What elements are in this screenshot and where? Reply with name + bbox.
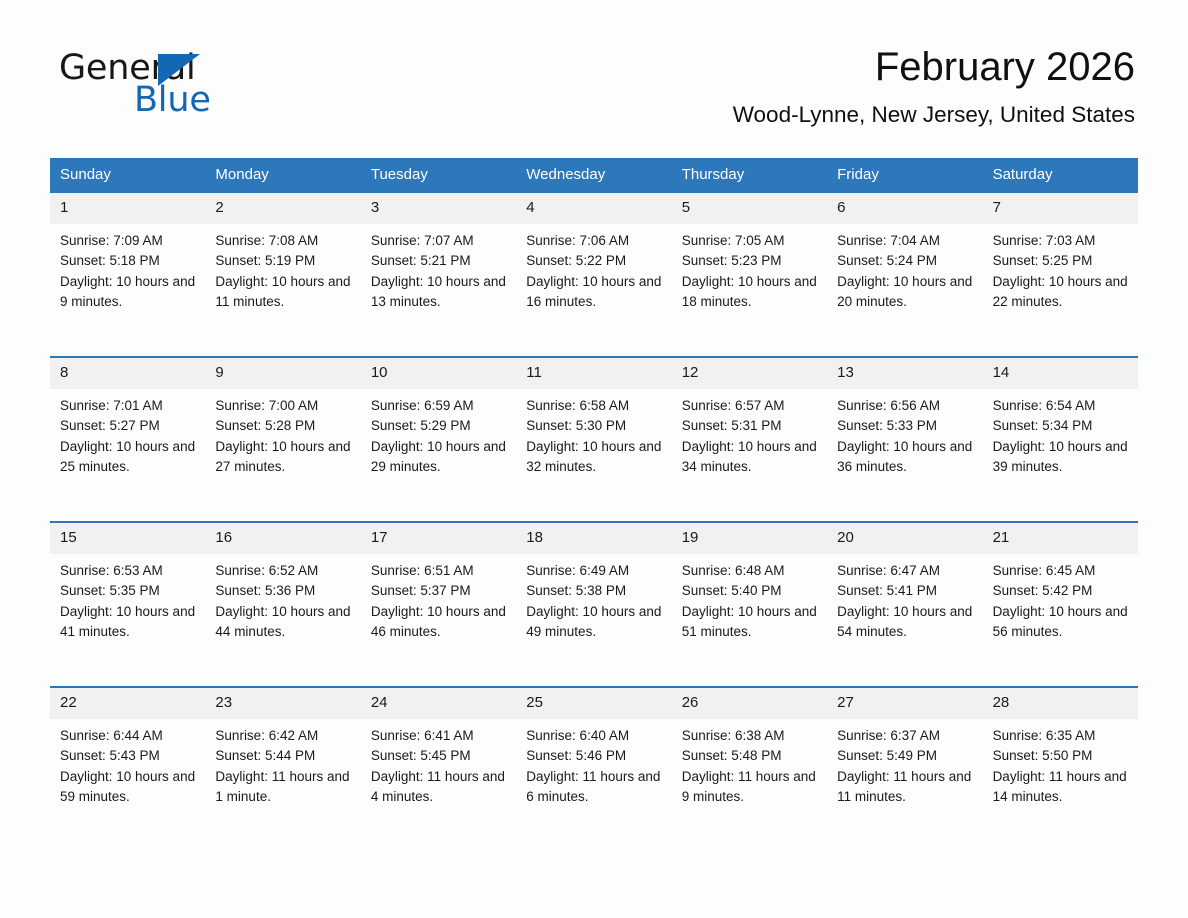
sunrise-text: Sunrise: 6:49 AM [526,561,663,581]
sunset-text: Sunset: 5:30 PM [526,416,663,436]
day-number: 14 [983,358,1138,389]
sunrise-sunset-calendar: SundayMondayTuesdayWednesdayThursdayFrid… [50,158,1138,851]
day-details: Sunrise: 6:35 AMSunset: 5:50 PMDaylight:… [983,719,1138,807]
sunrise-text: Sunrise: 6:58 AM [526,396,663,416]
sunrise-text: Sunrise: 6:48 AM [682,561,819,581]
sunset-text: Sunset: 5:44 PM [215,746,352,766]
day-details: Sunrise: 6:59 AMSunset: 5:29 PMDaylight:… [361,389,516,477]
sunset-text: Sunset: 5:28 PM [215,416,352,436]
weekday-header-tuesday: Tuesday [361,158,516,193]
daylight-text: Daylight: 11 hours and 11 minutes. [837,767,974,808]
sunrise-text: Sunrise: 7:01 AM [60,396,197,416]
sunrise-text: Sunrise: 6:57 AM [682,396,819,416]
day-details: Sunrise: 6:40 AMSunset: 5:46 PMDaylight:… [516,719,671,807]
calendar-day-cell[interactable]: 7Sunrise: 7:03 AMSunset: 5:25 PMDaylight… [983,193,1138,356]
calendar-page: General Blue February 2026 Wood-Lynne, N… [0,0,1188,918]
sunrise-text: Sunrise: 6:40 AM [526,726,663,746]
sunrise-text: Sunrise: 6:51 AM [371,561,508,581]
calendar-day-cell[interactable]: 28Sunrise: 6:35 AMSunset: 5:50 PMDayligh… [983,688,1138,851]
sunrise-text: Sunrise: 7:04 AM [837,231,974,251]
calendar-week-row: 1Sunrise: 7:09 AMSunset: 5:18 PMDaylight… [50,193,1138,356]
daylight-text: Daylight: 10 hours and 59 minutes. [60,767,197,808]
daylight-text: Daylight: 10 hours and 32 minutes. [526,437,663,478]
sunset-text: Sunset: 5:46 PM [526,746,663,766]
sunset-text: Sunset: 5:48 PM [682,746,819,766]
day-number: 26 [672,688,827,719]
sunset-text: Sunset: 5:36 PM [215,581,352,601]
day-details: Sunrise: 6:56 AMSunset: 5:33 PMDaylight:… [827,389,982,477]
calendar-day-cell[interactable]: 6Sunrise: 7:04 AMSunset: 5:24 PMDaylight… [827,193,982,356]
weekday-header-thursday: Thursday [672,158,827,193]
day-number: 8 [50,358,205,389]
daylight-text: Daylight: 11 hours and 14 minutes. [993,767,1130,808]
sunrise-text: Sunrise: 7:07 AM [371,231,508,251]
day-details: Sunrise: 6:49 AMSunset: 5:38 PMDaylight:… [516,554,671,642]
sunrise-text: Sunrise: 6:52 AM [215,561,352,581]
sunset-text: Sunset: 5:19 PM [215,251,352,271]
day-number: 25 [516,688,671,719]
calendar-body: 1Sunrise: 7:09 AMSunset: 5:18 PMDaylight… [50,193,1138,851]
sunset-text: Sunset: 5:25 PM [993,251,1130,271]
day-details: Sunrise: 6:52 AMSunset: 5:36 PMDaylight:… [205,554,360,642]
title-block: February 2026 Wood-Lynne, New Jersey, Un… [733,44,1135,128]
daylight-text: Daylight: 10 hours and 20 minutes. [837,272,974,313]
day-number: 18 [516,523,671,554]
sunrise-text: Sunrise: 7:03 AM [993,231,1130,251]
sunrise-text: Sunrise: 6:47 AM [837,561,974,581]
daylight-text: Daylight: 10 hours and 18 minutes. [682,272,819,313]
sunrise-text: Sunrise: 7:00 AM [215,396,352,416]
day-number: 17 [361,523,516,554]
day-details: Sunrise: 6:57 AMSunset: 5:31 PMDaylight:… [672,389,827,477]
day-details: Sunrise: 7:00 AMSunset: 5:28 PMDaylight:… [205,389,360,477]
daylight-text: Daylight: 10 hours and 27 minutes. [215,437,352,478]
sunrise-text: Sunrise: 6:41 AM [371,726,508,746]
day-details: Sunrise: 7:07 AMSunset: 5:21 PMDaylight:… [361,224,516,312]
day-details: Sunrise: 6:53 AMSunset: 5:35 PMDaylight:… [50,554,205,642]
day-details: Sunrise: 7:06 AMSunset: 5:22 PMDaylight:… [516,224,671,312]
sunset-text: Sunset: 5:41 PM [837,581,974,601]
day-number: 6 [827,193,982,224]
calendar-day-cell[interactable]: 21Sunrise: 6:45 AMSunset: 5:42 PMDayligh… [983,523,1138,686]
day-number: 28 [983,688,1138,719]
sunrise-text: Sunrise: 6:45 AM [993,561,1130,581]
daylight-text: Daylight: 10 hours and 11 minutes. [215,272,352,313]
daylight-text: Daylight: 10 hours and 49 minutes. [526,602,663,643]
calendar-day-cell[interactable]: 23Sunrise: 6:42 AMSunset: 5:44 PMDayligh… [205,688,360,851]
sunrise-text: Sunrise: 6:54 AM [993,396,1130,416]
daylight-text: Daylight: 11 hours and 6 minutes. [526,767,663,808]
calendar-day-cell[interactable]: 22Sunrise: 6:44 AMSunset: 5:43 PMDayligh… [50,688,205,851]
calendar-day-cell[interactable]: 3Sunrise: 7:07 AMSunset: 5:21 PMDaylight… [361,193,516,356]
page-subtitle: Wood-Lynne, New Jersey, United States [733,102,1135,128]
daylight-text: Daylight: 10 hours and 9 minutes. [60,272,197,313]
weekday-header-monday: Monday [205,158,360,193]
day-details: Sunrise: 6:58 AMSunset: 5:30 PMDaylight:… [516,389,671,477]
day-number: 9 [205,358,360,389]
day-number: 5 [672,193,827,224]
sunset-text: Sunset: 5:50 PM [993,746,1130,766]
day-details: Sunrise: 6:44 AMSunset: 5:43 PMDaylight:… [50,719,205,807]
general-blue-logo[interactable]: General Blue [59,48,259,122]
sunrise-text: Sunrise: 6:37 AM [837,726,974,746]
day-number: 12 [672,358,827,389]
logo-text-blue: Blue [134,80,211,120]
calendar-day-cell[interactable]: 16Sunrise: 6:52 AMSunset: 5:36 PMDayligh… [205,523,360,686]
calendar-day-cell[interactable]: 15Sunrise: 6:53 AMSunset: 5:35 PMDayligh… [50,523,205,686]
sunrise-text: Sunrise: 6:38 AM [682,726,819,746]
weekday-header-friday: Friday [827,158,982,193]
day-details: Sunrise: 6:54 AMSunset: 5:34 PMDaylight:… [983,389,1138,477]
sunset-text: Sunset: 5:45 PM [371,746,508,766]
day-details: Sunrise: 7:08 AMSunset: 5:19 PMDaylight:… [205,224,360,312]
sunrise-text: Sunrise: 7:08 AM [215,231,352,251]
day-number: 7 [983,193,1138,224]
calendar-day-cell[interactable]: 4Sunrise: 7:06 AMSunset: 5:22 PMDaylight… [516,193,671,356]
sunset-text: Sunset: 5:23 PM [682,251,819,271]
day-number: 15 [50,523,205,554]
calendar-day-cell[interactable]: 13Sunrise: 6:56 AMSunset: 5:33 PMDayligh… [827,358,982,521]
calendar-day-cell[interactable]: 12Sunrise: 6:57 AMSunset: 5:31 PMDayligh… [672,358,827,521]
day-number: 27 [827,688,982,719]
daylight-text: Daylight: 10 hours and 56 minutes. [993,602,1130,643]
day-details: Sunrise: 6:41 AMSunset: 5:45 PMDaylight:… [361,719,516,807]
page-header: General Blue February 2026 Wood-Lynne, N… [50,0,1138,112]
calendar-day-cell[interactable]: 19Sunrise: 6:48 AMSunset: 5:40 PMDayligh… [672,523,827,686]
daylight-text: Daylight: 11 hours and 1 minute. [215,767,352,808]
calendar-day-cell[interactable]: 5Sunrise: 7:05 AMSunset: 5:23 PMDaylight… [672,193,827,356]
sunrise-text: Sunrise: 6:59 AM [371,396,508,416]
day-number: 11 [516,358,671,389]
calendar-day-cell[interactable]: 24Sunrise: 6:41 AMSunset: 5:45 PMDayligh… [361,688,516,851]
sunrise-text: Sunrise: 6:44 AM [60,726,197,746]
calendar-day-cell[interactable]: 18Sunrise: 6:49 AMSunset: 5:38 PMDayligh… [516,523,671,686]
calendar-day-cell[interactable]: 25Sunrise: 6:40 AMSunset: 5:46 PMDayligh… [516,688,671,851]
daylight-text: Daylight: 10 hours and 16 minutes. [526,272,663,313]
calendar-day-cell[interactable]: 20Sunrise: 6:47 AMSunset: 5:41 PMDayligh… [827,523,982,686]
day-details: Sunrise: 7:04 AMSunset: 5:24 PMDaylight:… [827,224,982,312]
day-details: Sunrise: 7:09 AMSunset: 5:18 PMDaylight:… [50,224,205,312]
calendar-day-cell[interactable]: 1Sunrise: 7:09 AMSunset: 5:18 PMDaylight… [50,193,205,356]
daylight-text: Daylight: 10 hours and 22 minutes. [993,272,1130,313]
sunset-text: Sunset: 5:29 PM [371,416,508,436]
daylight-text: Daylight: 10 hours and 54 minutes. [837,602,974,643]
daylight-text: Daylight: 10 hours and 29 minutes. [371,437,508,478]
sunset-text: Sunset: 5:43 PM [60,746,197,766]
calendar-day-cell[interactable]: 17Sunrise: 6:51 AMSunset: 5:37 PMDayligh… [361,523,516,686]
day-number: 10 [361,358,516,389]
day-number: 13 [827,358,982,389]
day-details: Sunrise: 7:03 AMSunset: 5:25 PMDaylight:… [983,224,1138,312]
sunset-text: Sunset: 5:21 PM [371,251,508,271]
day-details: Sunrise: 6:45 AMSunset: 5:42 PMDaylight:… [983,554,1138,642]
day-details: Sunrise: 6:48 AMSunset: 5:40 PMDaylight:… [672,554,827,642]
sunset-text: Sunset: 5:40 PM [682,581,819,601]
calendar-day-cell[interactable]: 2Sunrise: 7:08 AMSunset: 5:19 PMDaylight… [205,193,360,356]
calendar-week-row: 15Sunrise: 6:53 AMSunset: 5:35 PMDayligh… [50,521,1138,686]
day-details: Sunrise: 6:38 AMSunset: 5:48 PMDaylight:… [672,719,827,807]
day-number: 16 [205,523,360,554]
daylight-text: Daylight: 10 hours and 46 minutes. [371,602,508,643]
sunset-text: Sunset: 5:35 PM [60,581,197,601]
sunset-text: Sunset: 5:34 PM [993,416,1130,436]
daylight-text: Daylight: 10 hours and 36 minutes. [837,437,974,478]
weekday-header-sunday: Sunday [50,158,205,193]
day-details: Sunrise: 6:51 AMSunset: 5:37 PMDaylight:… [361,554,516,642]
day-details: Sunrise: 6:42 AMSunset: 5:44 PMDaylight:… [205,719,360,807]
sunrise-text: Sunrise: 7:05 AM [682,231,819,251]
calendar-day-cell[interactable]: 14Sunrise: 6:54 AMSunset: 5:34 PMDayligh… [983,358,1138,521]
calendar-week-row: 22Sunrise: 6:44 AMSunset: 5:43 PMDayligh… [50,686,1138,851]
weekday-header-row: SundayMondayTuesdayWednesdayThursdayFrid… [50,158,1138,193]
page-title: February 2026 [733,44,1135,90]
weekday-header-wednesday: Wednesday [516,158,671,193]
day-number: 2 [205,193,360,224]
day-details: Sunrise: 7:05 AMSunset: 5:23 PMDaylight:… [672,224,827,312]
sunset-text: Sunset: 5:38 PM [526,581,663,601]
daylight-text: Daylight: 11 hours and 4 minutes. [371,767,508,808]
daylight-text: Daylight: 10 hours and 51 minutes. [682,602,819,643]
day-number: 19 [672,523,827,554]
calendar-day-cell[interactable]: 27Sunrise: 6:37 AMSunset: 5:49 PMDayligh… [827,688,982,851]
daylight-text: Daylight: 10 hours and 34 minutes. [682,437,819,478]
daylight-text: Daylight: 10 hours and 39 minutes. [993,437,1130,478]
sunrise-text: Sunrise: 7:06 AM [526,231,663,251]
sunset-text: Sunset: 5:33 PM [837,416,974,436]
calendar-day-cell[interactable]: 8Sunrise: 7:01 AMSunset: 5:27 PMDaylight… [50,358,205,521]
sunset-text: Sunset: 5:24 PM [837,251,974,271]
weekday-header-saturday: Saturday [983,158,1138,193]
day-details: Sunrise: 7:01 AMSunset: 5:27 PMDaylight:… [50,389,205,477]
daylight-text: Daylight: 10 hours and 41 minutes. [60,602,197,643]
calendar-day-cell[interactable]: 9Sunrise: 7:00 AMSunset: 5:28 PMDaylight… [205,358,360,521]
day-number: 23 [205,688,360,719]
day-number: 4 [516,193,671,224]
sunset-text: Sunset: 5:27 PM [60,416,197,436]
day-number: 21 [983,523,1138,554]
day-number: 24 [361,688,516,719]
sunset-text: Sunset: 5:49 PM [837,746,974,766]
sunrise-text: Sunrise: 6:35 AM [993,726,1130,746]
day-number: 22 [50,688,205,719]
sunset-text: Sunset: 5:37 PM [371,581,508,601]
calendar-day-cell[interactable]: 10Sunrise: 6:59 AMSunset: 5:29 PMDayligh… [361,358,516,521]
calendar-day-cell[interactable]: 11Sunrise: 6:58 AMSunset: 5:30 PMDayligh… [516,358,671,521]
daylight-text: Daylight: 10 hours and 13 minutes. [371,272,508,313]
day-number: 3 [361,193,516,224]
sunrise-text: Sunrise: 6:53 AM [60,561,197,581]
day-number: 20 [827,523,982,554]
sunset-text: Sunset: 5:31 PM [682,416,819,436]
day-details: Sunrise: 6:47 AMSunset: 5:41 PMDaylight:… [827,554,982,642]
day-details: Sunrise: 6:37 AMSunset: 5:49 PMDaylight:… [827,719,982,807]
daylight-text: Daylight: 11 hours and 9 minutes. [682,767,819,808]
sunset-text: Sunset: 5:22 PM [526,251,663,271]
sunrise-text: Sunrise: 6:42 AM [215,726,352,746]
sunset-text: Sunset: 5:42 PM [993,581,1130,601]
day-number: 1 [50,193,205,224]
sunrise-text: Sunrise: 6:56 AM [837,396,974,416]
sunset-text: Sunset: 5:18 PM [60,251,197,271]
daylight-text: Daylight: 10 hours and 44 minutes. [215,602,352,643]
sunrise-text: Sunrise: 7:09 AM [60,231,197,251]
calendar-day-cell[interactable]: 26Sunrise: 6:38 AMSunset: 5:48 PMDayligh… [672,688,827,851]
daylight-text: Daylight: 10 hours and 25 minutes. [60,437,197,478]
calendar-week-row: 8Sunrise: 7:01 AMSunset: 5:27 PMDaylight… [50,356,1138,521]
